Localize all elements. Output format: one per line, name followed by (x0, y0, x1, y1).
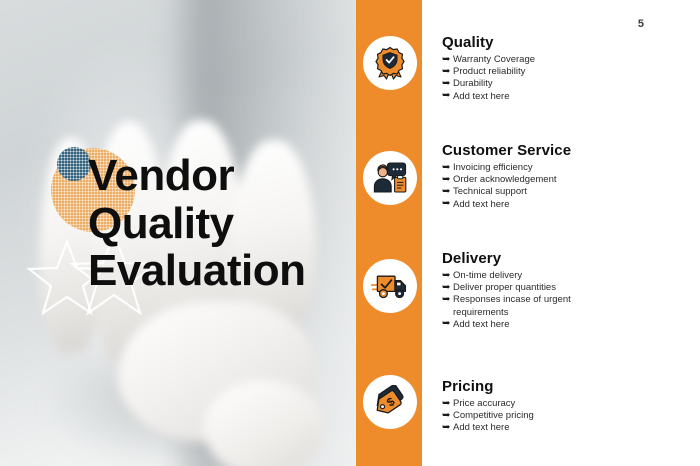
list-item-label: Price accuracy (453, 398, 515, 409)
section-heading: Quality (442, 34, 494, 51)
arrow-bullet-icon: ➥ (442, 294, 450, 306)
customer-support-icon (372, 161, 408, 195)
list-item: ➥Responses incase of urgent requirements (442, 294, 602, 318)
list-item-label: Add text here (453, 91, 510, 102)
list-item: ➥Durability (442, 78, 602, 90)
list-item: ➥Add text here (442, 422, 602, 434)
list-item: ➥Order acknowledgement (442, 174, 602, 186)
list-item: ➥Technical support (442, 186, 602, 198)
list-item-label: Competitive pricing (453, 410, 534, 421)
list-item: ➥Add text here (442, 199, 602, 211)
bullet-list: ➥Warranty Coverage ➥Product reliability … (442, 54, 602, 103)
list-item: ➥Price accuracy (442, 398, 602, 410)
arrow-bullet-icon: ➥ (442, 54, 450, 66)
arrow-bullet-icon: ➥ (442, 410, 450, 422)
list-item: ➥Deliver proper quantities (442, 282, 602, 294)
arrow-bullet-icon: ➥ (442, 174, 450, 186)
icon-circle-delivery (363, 259, 417, 313)
list-item: ➥Add text here (442, 319, 602, 331)
list-item: ➥Add text here (442, 91, 602, 103)
title-line-3: Evaluation (88, 247, 356, 295)
page-title: Vendor Quality Evaluation (88, 152, 356, 295)
list-item-label: Warranty Coverage (453, 54, 535, 65)
title-line-1: Vendor (88, 152, 356, 200)
arrow-bullet-icon: ➥ (442, 422, 450, 434)
arrow-bullet-icon: ➥ (442, 198, 450, 210)
decorative-dot-circle-blue (57, 147, 91, 181)
list-item-label: On-time delivery (453, 270, 522, 281)
background-photo-panel: Vendor Quality Evaluation (0, 0, 356, 466)
list-item: ➥On-time delivery (442, 270, 602, 282)
award-badge-icon (373, 46, 407, 80)
bullet-list: ➥Invoicing efficiency ➥Order acknowledge… (442, 162, 602, 211)
list-item-label: Add text here (453, 199, 510, 210)
page-number: 5 (638, 18, 644, 30)
list-item-label: Add text here (453, 422, 510, 433)
arrow-bullet-icon: ➥ (442, 78, 450, 90)
icon-circle-pricing: $ (363, 375, 417, 429)
list-item-label: Responses incase of urgent requirements (453, 294, 571, 317)
title-line-2: Quality (88, 200, 356, 248)
list-item-label: Add text here (453, 319, 510, 330)
section-heading: Customer Service (442, 142, 571, 159)
section-heading: Delivery (442, 250, 501, 267)
arrow-bullet-icon: ➥ (442, 318, 450, 330)
icon-circle-quality (363, 36, 417, 90)
list-item: ➥Warranty Coverage (442, 54, 602, 66)
list-item-label: Deliver proper quantities (453, 282, 556, 293)
list-item: ➥Competitive pricing (442, 410, 602, 422)
delivery-truck-icon (371, 271, 409, 301)
list-item: ➥Product reliability (442, 66, 602, 78)
list-item-label: Technical support (453, 186, 527, 197)
arrow-bullet-icon: ➥ (442, 90, 450, 102)
arrow-bullet-icon: ➥ (442, 162, 450, 174)
bullet-list: ➥Price accuracy ➥Competitive pricing ➥Ad… (442, 398, 602, 435)
arrow-bullet-icon: ➥ (442, 186, 450, 198)
section-heading: Pricing (442, 378, 494, 395)
list-item-label: Order acknowledgement (453, 174, 557, 185)
bullet-list: ➥On-time delivery ➥Deliver proper quanti… (442, 270, 602, 331)
content-panel: Quality ➥Warranty Coverage ➥Product reli… (422, 0, 700, 466)
arrow-bullet-icon: ➥ (442, 270, 450, 282)
list-item: ➥Invoicing efficiency (442, 162, 602, 174)
arrow-bullet-icon: ➥ (442, 398, 450, 410)
list-item-label: Durability (453, 78, 493, 89)
slide-canvas: Vendor Quality Evaluation Quality ➥Warra… (0, 0, 700, 466)
arrow-bullet-icon: ➥ (442, 282, 450, 294)
list-item-label: Invoicing efficiency (453, 162, 533, 173)
hand-fingertip (204, 380, 324, 466)
arrow-bullet-icon: ➥ (442, 66, 450, 78)
price-tag-icon: $ (373, 385, 407, 419)
icon-circle-customer-service (363, 151, 417, 205)
list-item-label: Product reliability (453, 66, 525, 77)
